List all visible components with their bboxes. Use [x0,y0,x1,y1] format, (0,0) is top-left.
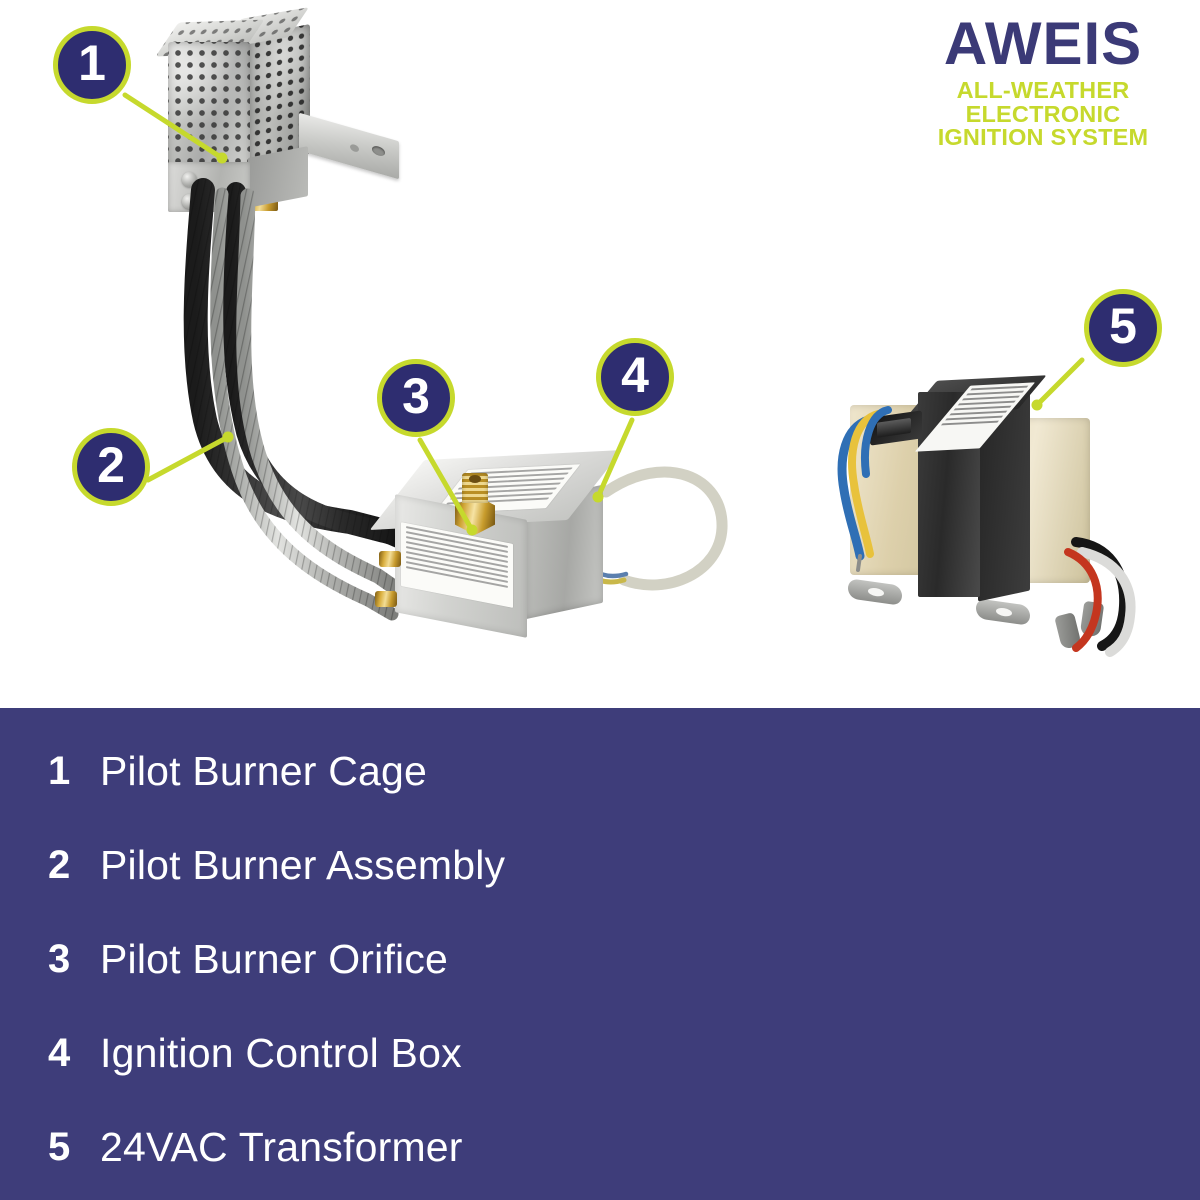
leader-dot-2 [223,432,234,443]
legend-row-5: 5 24VAC Transformer [0,1116,1200,1178]
callout-badge-5-number: 5 [1109,301,1137,351]
callout-badge-3[interactable]: 3 [377,359,455,437]
legend-label-4: Ignition Control Box [100,1033,462,1074]
legend-number-5: 5 [0,1127,100,1167]
leader-dot-4 [593,492,604,503]
callout-badge-5[interactable]: 5 [1084,289,1162,367]
callout-badge-1[interactable]: 1 [53,26,131,104]
legend-number-4: 4 [0,1033,100,1073]
legend-label-1: Pilot Burner Cage [100,751,427,792]
leader-dot-1 [217,153,228,164]
legend-row-3: 3 Pilot Burner Orifice [0,928,1200,990]
callout-badge-1-number: 1 [78,38,106,88]
callout-badge-2-number: 2 [97,440,125,490]
legend-label-3: Pilot Burner Orifice [100,939,448,980]
callout-badge-4-number: 4 [621,350,649,400]
legend-number-1: 1 [0,751,100,791]
product-photo-stage: AWEIS ALL-WEATHER ELECTRONIC IGNITION SY… [0,0,1200,708]
leader-dot-5 [1032,400,1043,411]
legend-number-3: 3 [0,939,100,979]
callout-leader-lines [0,0,1200,708]
legend-label-5: 24VAC Transformer [100,1127,463,1168]
legend-panel: 1 Pilot Burner Cage 2 Pilot Burner Assem… [0,708,1200,1200]
legend-row-1: 1 Pilot Burner Cage [0,740,1200,802]
leader-dot-3 [467,525,478,536]
callout-badge-4[interactable]: 4 [596,338,674,416]
legend-row-2: 2 Pilot Burner Assembly [0,834,1200,896]
legend-row-4: 4 Ignition Control Box [0,1022,1200,1084]
legend-number-2: 2 [0,845,100,885]
callout-badge-3-number: 3 [402,371,430,421]
legend-label-2: Pilot Burner Assembly [100,845,505,886]
callout-badge-2[interactable]: 2 [72,428,150,506]
